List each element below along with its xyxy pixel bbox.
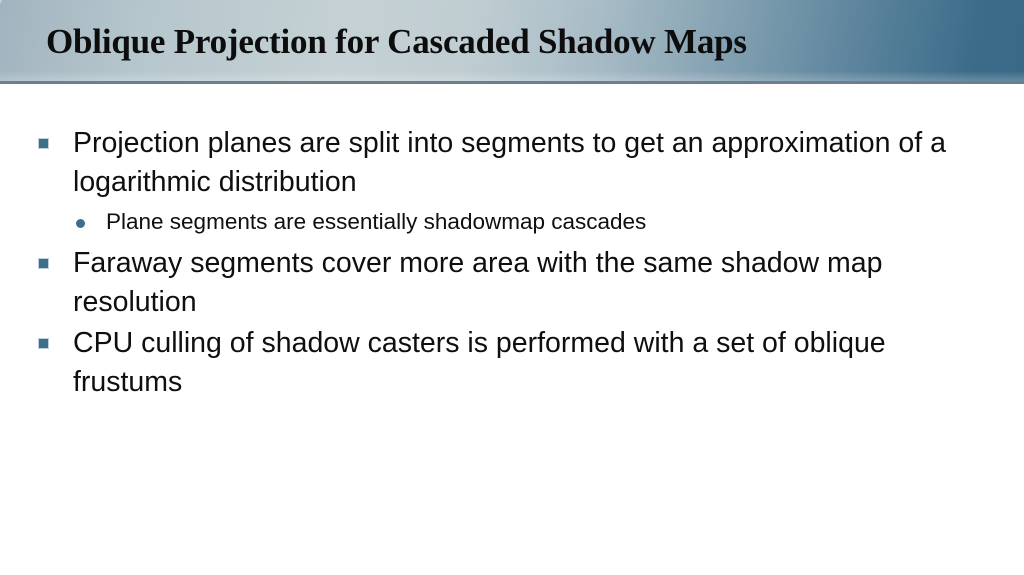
square-bullet-icon (38, 258, 49, 269)
bullet-text: Projection planes are split into segment… (73, 124, 968, 202)
bullet-text: CPU culling of shadow casters is perform… (73, 324, 968, 402)
round-bullet-icon (76, 219, 85, 228)
bullet-text: Plane segments are essentially shadowmap… (106, 207, 946, 237)
square-bullet-icon (38, 138, 49, 149)
slide-body-content: Projection planes are split into segment… (0, 124, 1024, 404)
bullet-item-3: Faraway segments cover more area with th… (0, 244, 1024, 322)
square-bullet-icon (38, 338, 49, 349)
bullet-item-4: CPU culling of shadow casters is perform… (0, 324, 1024, 402)
bullet-item-2: Plane segments are essentially shadowmap… (0, 207, 1024, 237)
bullet-text: Faraway segments cover more area with th… (73, 244, 968, 322)
slide-title-banner: Oblique Projection for Cascaded Shadow M… (0, 0, 1024, 84)
presentation-slide: Oblique Projection for Cascaded Shadow M… (0, 0, 1024, 575)
slide-title: Oblique Projection for Cascaded Shadow M… (46, 20, 747, 63)
bullet-item-1: Projection planes are split into segment… (0, 124, 1024, 202)
